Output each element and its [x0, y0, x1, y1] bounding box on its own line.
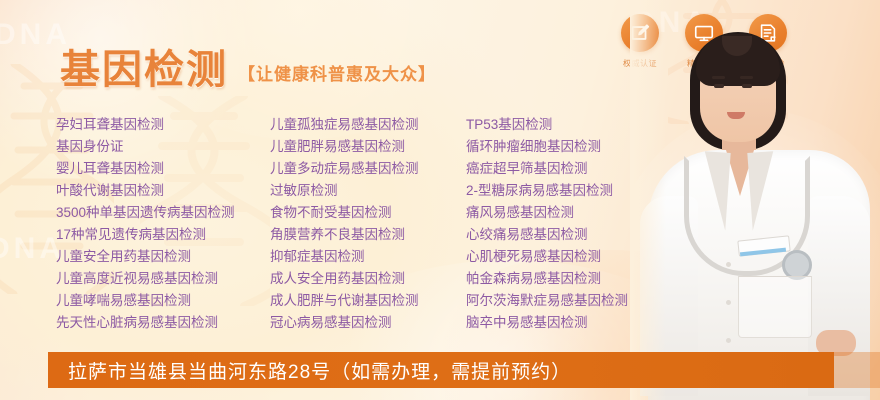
gene-testing-poster: DNA DNA DNA 基因检测 【让健康科普惠及大众】 权威认证 [0, 0, 880, 400]
service-column-2: 儿童孤独症易感基因检测 儿童肥胖易感基因检测 儿童多动症易感基因检测 过敏原检测… [270, 114, 466, 334]
list-item[interactable]: 儿童哮喘易感基因检测 [56, 290, 270, 312]
list-item[interactable]: 叶酸代谢基因检测 [56, 180, 270, 202]
title-subtitle: 【让健康科普惠及大众】 [238, 60, 436, 90]
list-item[interactable]: 儿童肥胖易感基因检测 [270, 136, 466, 158]
coat-button [726, 262, 731, 267]
title-main: 基因检测 [60, 50, 228, 90]
list-item[interactable]: 冠心病易感基因检测 [270, 312, 466, 334]
list-item[interactable]: 儿童安全用药基因检测 [56, 246, 270, 268]
page-title: 基因检测 【让健康科普惠及大众】 [60, 50, 436, 90]
coat-pocket [738, 276, 812, 338]
address-text: 拉萨市当雄县当曲河东路28号（如需办理，需提前预约） [48, 357, 571, 384]
list-item[interactable]: 成人肥胖与代谢基因检测 [270, 290, 466, 312]
list-item[interactable]: 食物不耐受基因检测 [270, 202, 466, 224]
service-column-1: 孕妇耳聋基因检测 基因身份证 婴儿耳聋基因检测 叶酸代谢基因检测 3500种单基… [56, 114, 270, 334]
list-item[interactable]: 抑郁症基因检测 [270, 246, 466, 268]
list-item[interactable]: 儿童多动症易感基因检测 [270, 158, 466, 180]
address-bar: 拉萨市当雄县当曲河东路28号（如需办理，需提前预约） [48, 352, 834, 388]
list-item[interactable]: 角膜营养不良基因检测 [270, 224, 466, 246]
watermark-text: DNA [0, 18, 71, 52]
list-item[interactable]: 孕妇耳聋基因检测 [56, 114, 270, 136]
list-item[interactable]: 成人安全用药基因检测 [270, 268, 466, 290]
list-item[interactable]: 3500种单基因遗传病基因检测 [56, 202, 270, 224]
list-item[interactable]: 基因身份证 [56, 136, 270, 158]
list-item[interactable]: 儿童高度近视易感基因检测 [56, 268, 270, 290]
coat-button [726, 338, 731, 343]
list-item[interactable]: 儿童孤独症易感基因检测 [270, 114, 466, 136]
list-item[interactable]: 过敏原检测 [270, 180, 466, 202]
coat-button [726, 300, 731, 305]
list-item[interactable]: 婴儿耳聋基因检测 [56, 158, 270, 180]
eyebrow-left [712, 76, 725, 79]
list-item[interactable]: 先天性心脏病易感基因检测 [56, 312, 270, 334]
eye-right [742, 84, 752, 88]
doctor-photo [630, 0, 880, 400]
eye-left [714, 84, 724, 88]
list-item[interactable]: 17种常见遗传病基因检测 [56, 224, 270, 246]
eyebrow-right [740, 76, 753, 79]
photo-edge-fade [630, 0, 666, 400]
